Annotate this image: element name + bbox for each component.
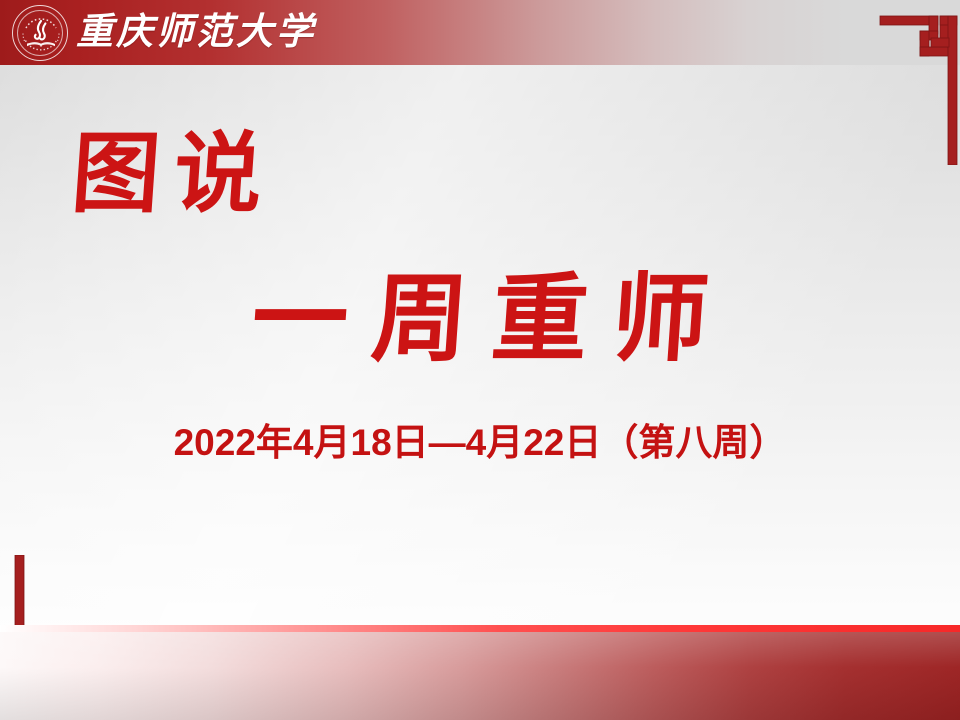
footer-gradient: [0, 632, 960, 720]
title-slide: 重庆师范大学: [0, 0, 960, 720]
brand: 重庆师范大学: [12, 4, 316, 62]
corner-ornament-icon: [860, 0, 960, 165]
page-title: 一周重师: [0, 262, 960, 378]
header-band: 重庆师范大学: [0, 0, 960, 65]
university-crest-icon: [12, 5, 68, 61]
university-name: 重庆师范大学: [76, 5, 316, 61]
footer-accent-line: [0, 625, 960, 632]
footer-band: [0, 625, 960, 720]
date-range: 2022年4月18日—4月22日（第八周）: [0, 420, 960, 466]
eyebrow-title: 图说: [68, 124, 279, 228]
